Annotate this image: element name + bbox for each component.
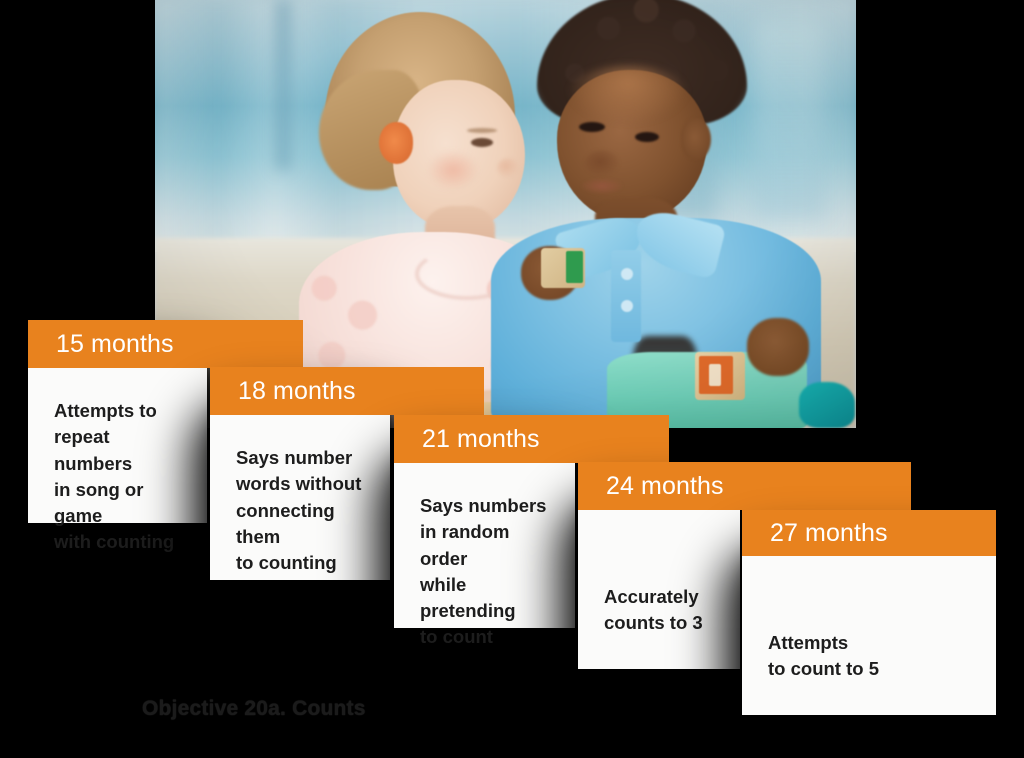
milestone-card-header: 18 months [210, 367, 484, 415]
infographic-stage: 15 months Attempts to repeat numbers in … [0, 0, 1024, 758]
milestone-card-body: Attempts to count to 5 [742, 556, 996, 715]
milestone-description: Accurately counts to 3 [604, 540, 703, 637]
milestone-card-body: Says number words without connecting the… [210, 415, 390, 580]
milestone-card-body: Says numbers in random order while prete… [394, 463, 575, 628]
milestone-card-body: Accurately counts to 3 [578, 510, 740, 669]
milestone-card-header: 15 months [28, 320, 303, 368]
milestone-card-header: 27 months [742, 510, 996, 556]
objective-caption: Objective 20a. Counts [142, 697, 366, 721]
milestone-description: Says numbers in random order while prete… [420, 493, 549, 651]
milestone-description: Attempts to count to 5 [768, 586, 879, 683]
milestone-description: Attempts to repeat numbers in song or ga… [54, 398, 181, 556]
milestone-description: Says number words without connecting the… [236, 445, 364, 576]
milestone-card-header: 24 months [578, 462, 911, 510]
milestone-card-body: Attempts to repeat numbers in song or ga… [28, 368, 207, 523]
milestone-card-header: 21 months [394, 415, 669, 463]
